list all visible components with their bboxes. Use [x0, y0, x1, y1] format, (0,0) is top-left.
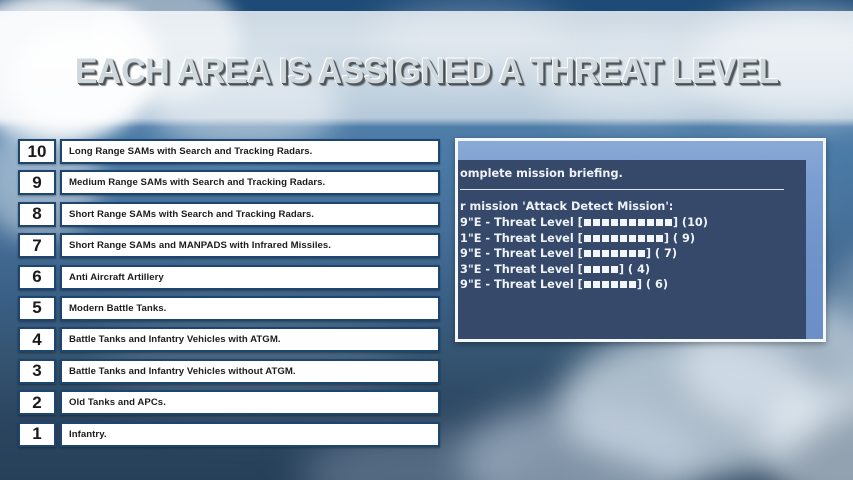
terminal-threat-suffix: ] (10) — [673, 216, 708, 229]
threat-level-bar — [583, 216, 673, 229]
threat-level-number: 10 — [18, 139, 56, 164]
terminal-threat-suffix: ] ( 4) — [619, 263, 650, 276]
terminal-threat-row: 1"E - Threat Level [] ( 9) — [458, 231, 806, 247]
threat-bar-block — [583, 218, 592, 227]
threat-bar-block — [628, 234, 637, 243]
threat-bar-block — [601, 218, 610, 227]
threat-level-description: Short Range SAMs with Search and Trackin… — [60, 202, 440, 227]
threat-bar-block — [619, 280, 628, 289]
threat-bar-block — [592, 280, 601, 289]
threat-bar-block — [655, 234, 664, 243]
threat-level-bar — [583, 278, 637, 291]
threat-bar-block — [646, 218, 655, 227]
terminal-threat-prefix: 3"E - Threat Level [ — [460, 263, 583, 276]
table-row: 7Short Range SAMs and MANPADS with Infra… — [18, 233, 440, 258]
threat-level-bar — [583, 263, 619, 276]
page-title: EACH AREA IS ASSIGNED A THREAT LEVEL — [75, 52, 779, 92]
terminal-threat-suffix: ] ( 6) — [637, 278, 668, 291]
table-row: 8Short Range SAMs with Search and Tracki… — [18, 202, 440, 227]
threat-bar-block — [664, 218, 673, 227]
title-container: EACH AREA IS ASSIGNED A THREAT LEVEL — [0, 52, 853, 92]
threat-bar-block — [610, 249, 619, 258]
threat-bar-block — [610, 234, 619, 243]
threat-bar-block — [637, 218, 646, 227]
threat-bar-block — [601, 280, 610, 289]
terminal-threat-row: 9"E - Threat Level [] (10) — [458, 215, 806, 231]
threat-bar-block — [601, 234, 610, 243]
threat-bar-block — [592, 218, 601, 227]
threat-bar-block — [583, 265, 592, 274]
threat-level-number: 4 — [18, 327, 56, 352]
threat-level-description: Battle Tanks and Infantry Vehicles with … — [60, 327, 440, 352]
threat-level-number: 3 — [18, 359, 56, 384]
terminal-threat-row: 9"E - Threat Level [] ( 6) — [458, 277, 806, 293]
threat-level-number: 5 — [18, 296, 56, 321]
threat-bar-block — [601, 265, 610, 274]
threat-bar-block — [637, 234, 646, 243]
threat-bar-block — [628, 218, 637, 227]
threat-level-number: 6 — [18, 265, 56, 290]
terminal-threat-row: 9"E - Threat Level [] ( 7) — [458, 246, 806, 262]
threat-bar-block — [601, 249, 610, 258]
threat-level-number: 2 — [18, 390, 56, 415]
threat-bar-block — [619, 249, 628, 258]
threat-bar-block — [619, 218, 628, 227]
threat-level-description: Battle Tanks and Infantry Vehicles witho… — [60, 359, 440, 384]
threat-bar-block — [583, 249, 592, 258]
terminal-header-line: omplete mission briefing. — [458, 166, 806, 182]
table-row: 9Medium Range SAMs with Search and Track… — [18, 170, 440, 195]
slide-canvas: EACH AREA IS ASSIGNED A THREAT LEVEL 10L… — [0, 0, 853, 480]
terminal-threat-prefix: 1"E - Threat Level [ — [460, 232, 583, 245]
mission-briefing-panel: omplete mission briefing. r mission 'Att… — [455, 138, 826, 342]
table-row: 4Battle Tanks and Infantry Vehicles with… — [18, 327, 440, 352]
threat-bar-block — [610, 280, 619, 289]
terminal-threat-suffix: ] ( 9) — [664, 232, 695, 245]
threat-level-number: 1 — [18, 422, 56, 447]
table-row: 3Battle Tanks and Infantry Vehicles with… — [18, 359, 440, 384]
threat-bar-block — [655, 218, 664, 227]
threat-level-description: Short Range SAMs and MANPADS with Infrar… — [60, 233, 440, 258]
threat-bar-block — [592, 265, 601, 274]
terminal-threat-prefix: 9"E - Threat Level [ — [460, 216, 583, 229]
threat-bar-block — [646, 234, 655, 243]
terminal-threat-row: 3"E - Threat Level [] ( 4) — [458, 262, 806, 278]
threat-level-description: Infantry. — [60, 422, 440, 447]
threat-bar-block — [628, 249, 637, 258]
table-row: 1Infantry. — [18, 422, 440, 447]
terminal-output: omplete mission briefing. r mission 'Att… — [458, 160, 806, 339]
threat-level-description: Modern Battle Tanks. — [60, 296, 440, 321]
threat-bar-block — [592, 249, 601, 258]
threat-level-description: Anti Aircraft Artillery — [60, 265, 440, 290]
threat-level-bar — [583, 232, 664, 245]
threat-level-description: Long Range SAMs with Search and Tracking… — [60, 139, 440, 164]
threat-level-number: 7 — [18, 233, 56, 258]
threat-bar-block — [637, 249, 646, 258]
threat-bar-block — [583, 280, 592, 289]
threat-level-description: Old Tanks and APCs. — [60, 390, 440, 415]
threat-bar-block — [619, 234, 628, 243]
threat-bar-block — [610, 218, 619, 227]
threat-bar-block — [583, 234, 592, 243]
threat-level-bar — [583, 247, 646, 260]
table-row: 10Long Range SAMs with Search and Tracki… — [18, 139, 440, 164]
threat-level-description: Medium Range SAMs with Search and Tracki… — [60, 170, 440, 195]
table-row: 6Anti Aircraft Artillery — [18, 265, 440, 290]
threat-level-number: 8 — [18, 202, 56, 227]
threat-bar-block — [592, 234, 601, 243]
terminal-threat-prefix: 9"E - Threat Level [ — [460, 247, 583, 260]
threat-bar-block — [610, 265, 619, 274]
table-row: 2Old Tanks and APCs. — [18, 390, 440, 415]
terminal-subject-line: r mission 'Attack Detect Mission': — [458, 199, 806, 215]
terminal-divider — [460, 189, 784, 190]
table-row: 5Modern Battle Tanks. — [18, 296, 440, 321]
threat-level-number: 9 — [18, 170, 56, 195]
terminal-threat-lines: 9"E - Threat Level [] (10)1"E - Threat L… — [458, 215, 806, 293]
threat-bar-block — [628, 280, 637, 289]
terminal-threat-prefix: 9"E - Threat Level [ — [460, 278, 583, 291]
terminal-threat-suffix: ] ( 7) — [646, 247, 677, 260]
threat-level-table: 10Long Range SAMs with Search and Tracki… — [18, 139, 440, 453]
